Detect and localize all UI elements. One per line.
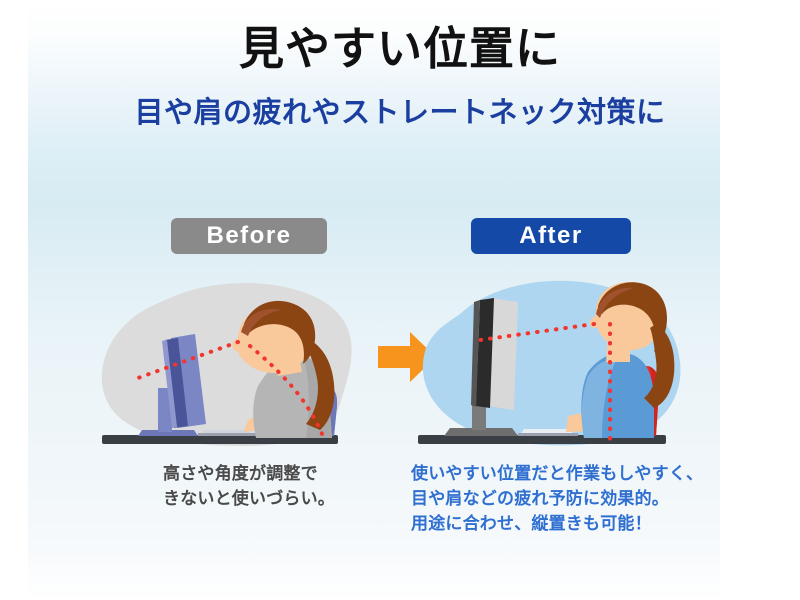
- caption-before-line-2: きないと使いづらい。: [163, 486, 335, 511]
- illustration-before: [98, 280, 390, 455]
- page-subtitle: 目や肩の疲れやストレートネック対策に: [0, 95, 800, 131]
- caption-after-line-3: 用途に合わせ、縦置きも可能！: [411, 511, 703, 536]
- caption-before: 高さや角度が調整で きないと使いづらい。: [163, 461, 335, 511]
- caption-before-line-1: 高さや角度が調整で: [163, 461, 335, 486]
- badge-before: Before: [171, 218, 327, 254]
- keyboard-shadow: [198, 433, 256, 436]
- badge-after: After: [471, 218, 631, 254]
- illustration-after: [408, 280, 700, 455]
- keyboard-shadow: [518, 433, 578, 436]
- caption-after-line-1: 使いやすい位置だと作業もしやすく、: [411, 461, 703, 486]
- caption-after: 使いやすい位置だと作業もしやすく、 目や肩などの疲れ予防に効果的。 用途に合わせ…: [411, 461, 703, 536]
- infographic-stage: 見やすい位置に 目や肩の疲れやストレートネック対策に Before After: [0, 0, 800, 600]
- page-title: 見やすい位置に: [0, 22, 800, 76]
- caption-after-line-2: 目や肩などの疲れ予防に効果的。: [411, 486, 703, 511]
